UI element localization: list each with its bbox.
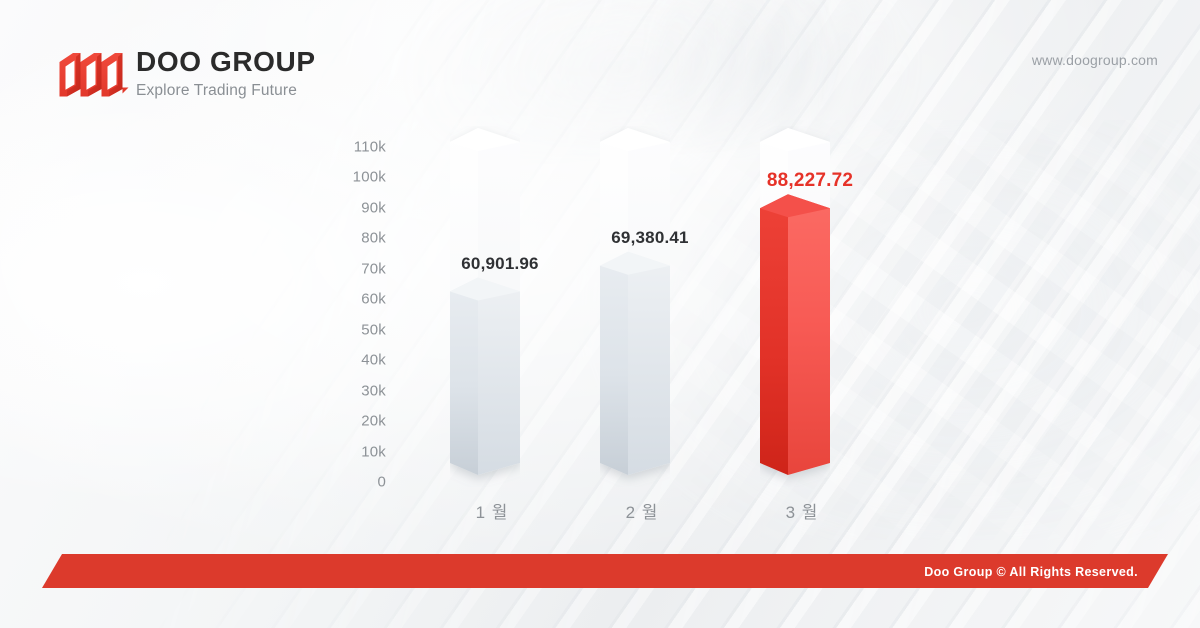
y-axis-tick: 60k <box>318 291 386 308</box>
bar-fill-highlighted <box>760 194 830 475</box>
footer-copyright: Doo Group © All Rights Reserved. <box>924 565 1138 579</box>
y-axis-tick: 70k <box>318 260 386 277</box>
bar-value-label: 88,227.72 <box>700 170 920 192</box>
bar-prism <box>450 126 520 487</box>
x-axis-label: 1 월 <box>442 498 542 523</box>
y-axis-tick: 0 <box>318 474 386 491</box>
bar-value-label: 60,901.96 <box>390 254 610 274</box>
y-axis-tick: 10k <box>318 443 386 460</box>
y-axis-tick: 100k <box>318 169 386 186</box>
bar-column[interactable]: 88,227.72 <box>760 140 860 475</box>
bar-column[interactable]: 60,901.96 <box>450 140 550 475</box>
y-axis-tick: 50k <box>318 321 386 338</box>
x-axis: 1 월2 월3 월 <box>440 498 880 528</box>
y-axis-tick: 40k <box>318 352 386 369</box>
x-axis-label: 2 월 <box>592 498 692 523</box>
y-axis-tick: 90k <box>318 199 386 216</box>
bar-prism <box>600 126 670 487</box>
x-axis-label: 3 월 <box>752 498 852 523</box>
y-axis: 110k100k90k80k70k60k50k40k30k20k10k0 <box>318 138 386 483</box>
bar-fill <box>450 278 520 475</box>
bar-chart: 110k100k90k80k70k60k50k40k30k20k10k0 60,… <box>0 0 1200 628</box>
bar-column[interactable]: 69,380.41 <box>600 140 700 475</box>
y-axis-tick: 110k <box>318 139 386 156</box>
y-axis-tick: 20k <box>318 413 386 430</box>
bar-value-label: 69,380.41 <box>540 228 760 248</box>
plot-area: 60,901.9669,380.4188,227.72 <box>440 140 880 475</box>
bar-fill <box>600 252 670 475</box>
y-axis-tick: 30k <box>318 382 386 399</box>
y-axis-tick: 80k <box>318 230 386 247</box>
